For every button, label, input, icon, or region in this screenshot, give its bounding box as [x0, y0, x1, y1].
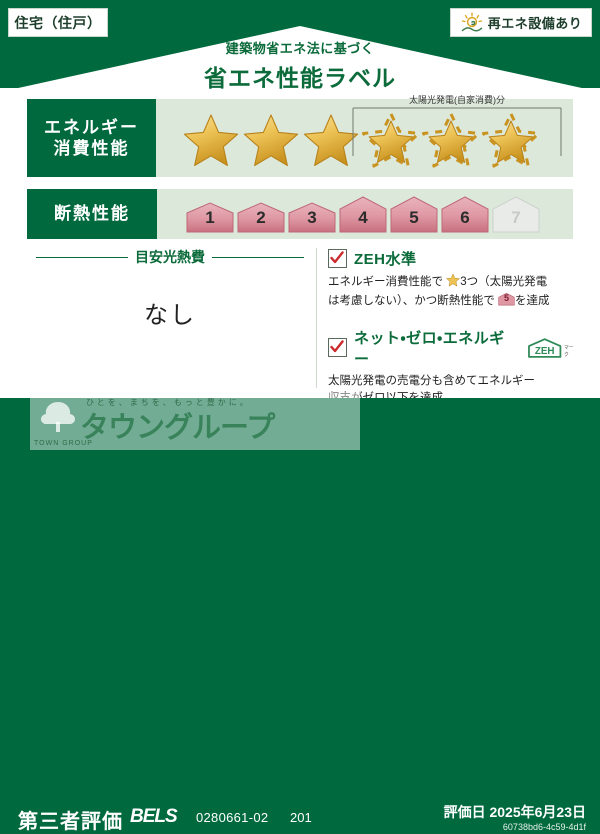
zeh-desc-star-count: 3つ（太陽光発電: [460, 276, 547, 288]
check-icon: [330, 251, 344, 265]
star-2-solid: [242, 112, 300, 168]
inline-house-grade: 5: [498, 292, 515, 306]
utility-cost-heading: 目安光熱費: [36, 247, 304, 267]
zeh-mark-tm: マーク: [564, 344, 578, 358]
zeh-standard-description: エネルギー消費性能で 3つ（太陽光発電 は考慮しない）、かつ断熱性能で 5 を達…: [328, 273, 578, 311]
solar-bracket-caption: 太陽光発電(自家消費)分: [352, 93, 562, 106]
insulation-grade-2-value: 2: [236, 208, 286, 228]
zeh-standard-check-row: ZEH水準: [328, 248, 578, 269]
inline-star-icon: [446, 273, 460, 287]
zeh-desc-part2: は考慮しない）、かつ断熱性能で: [328, 295, 495, 307]
insulation-grade-6: 6: [440, 195, 490, 233]
energy-performance-label: 住宅（住戸） 再エネ設備あり 建築物省エネ法に基づく 省エネ性能ラベル: [0, 0, 600, 450]
renewable-sun-icon: [460, 12, 484, 34]
label-title-block: 建築物省エネ法に基づく 省エネ性能ラベル: [0, 38, 600, 93]
building-type-badge: 住宅（住戸）: [8, 8, 108, 37]
bels-logo-text: BELS: [130, 806, 177, 828]
heading-rule-left: [36, 257, 128, 258]
renewable-equipment-badge: 再エネ設備あり: [450, 8, 592, 37]
star-3-solid: [302, 112, 360, 168]
utility-cost-block: 目安光熱費 なし: [36, 247, 304, 330]
net-zero-energy-checkbox[interactable]: [328, 338, 347, 357]
insulation-grade-3-value: 3: [287, 208, 337, 228]
energy-performance-label-cell: エネルギー 消費性能: [27, 99, 156, 177]
energy-performance-row: エネルギー 消費性能 太陽光発電(自家消費)分: [27, 99, 573, 177]
star-1-solid: [182, 112, 240, 168]
building-type-text: 住宅（住戸）: [15, 13, 102, 33]
zeh-desc-part1: エネルギー消費性能で: [328, 276, 443, 288]
zeh-standard-checkbox[interactable]: [328, 249, 347, 268]
insulation-grade-4-value: 4: [338, 208, 388, 228]
insulation-label-text: 断熱性能: [54, 203, 130, 224]
insulation-grade-7: 7: [491, 195, 541, 233]
insulation-grade-2: 2: [236, 201, 286, 233]
zeh-standard-title: ZEH水準: [354, 248, 417, 269]
zeh-house-icon: ZEH: [527, 337, 562, 359]
utility-cost-title: 目安光熱費: [135, 247, 205, 267]
zeh-mark-logo: ZEH マーク: [527, 337, 578, 359]
insulation-grade-group: 1 2 3 4: [185, 195, 541, 233]
section-divider: [316, 248, 317, 388]
zeh-desc-part3: を達成: [515, 295, 550, 307]
insulation-grade-6-value: 6: [440, 208, 490, 228]
net-zero-energy-check-row: ネット・ゼロ・エネルギー ZEH マーク: [328, 327, 578, 369]
star-6-dashed-solar: [482, 112, 540, 168]
utility-cost-value: なし: [36, 295, 304, 330]
energy-label-line2: 消費性能: [54, 138, 130, 159]
energy-label-line1: エネルギー: [44, 117, 139, 138]
page-title: 省エネ性能ラベル: [0, 59, 600, 93]
certification-checks: ZEH水準 エネルギー消費性能で 3つ（太陽光発電 は考慮しない）、かつ断熱性能…: [328, 248, 578, 408]
renewable-equipment-text: 再エネ設備あり: [488, 13, 583, 32]
insulation-performance-row: 断熱性能 1 2: [27, 189, 573, 239]
insulation-value-cell: 1 2 3 4: [157, 189, 573, 239]
third-party-evaluation-label: 第三者評価: [18, 805, 123, 834]
insulation-grade-3: 3: [287, 201, 337, 233]
svg-text:ZEH: ZEH: [535, 346, 555, 357]
label-subtitle: 建築物省エネ法に基づく: [0, 38, 600, 57]
insulation-grade-5-value: 5: [389, 208, 439, 228]
inline-house-icon: 5: [498, 292, 515, 306]
net-zero-energy-title: ネット・ゼロ・エネルギー: [354, 327, 517, 369]
room-number: 201: [290, 810, 312, 825]
nze-desc-line1: 太陽光発電の売電分も含めてエネルギー: [328, 375, 535, 387]
insulation-grade-4: 4: [338, 195, 388, 233]
star-4-dashed-solar: [362, 112, 420, 168]
insulation-grade-5: 5: [389, 195, 439, 233]
heading-rule-right: [212, 257, 304, 258]
star-5-dashed-solar: [422, 112, 480, 168]
check-icon: [330, 340, 344, 354]
energy-performance-value-cell: 太陽光発電(自家消費)分: [156, 99, 573, 177]
insulation-grade-1-value: 1: [185, 208, 235, 228]
star-rating-group: [182, 112, 540, 168]
insulation-grade-1: 1: [185, 201, 235, 233]
evaluation-date: 評価日 2025年6月23日: [444, 802, 586, 822]
insulation-label-cell: 断熱性能: [27, 189, 157, 239]
evaluation-hash: 60738bd6-4c59-4d1f: [503, 822, 586, 832]
insulation-grade-7-value: 7: [491, 208, 541, 228]
label-footer: 第三者評価 BELS 0280661-02 201 評価日 2025年6月23日…: [0, 398, 600, 450]
certificate-number: 0280661-02: [196, 810, 268, 825]
